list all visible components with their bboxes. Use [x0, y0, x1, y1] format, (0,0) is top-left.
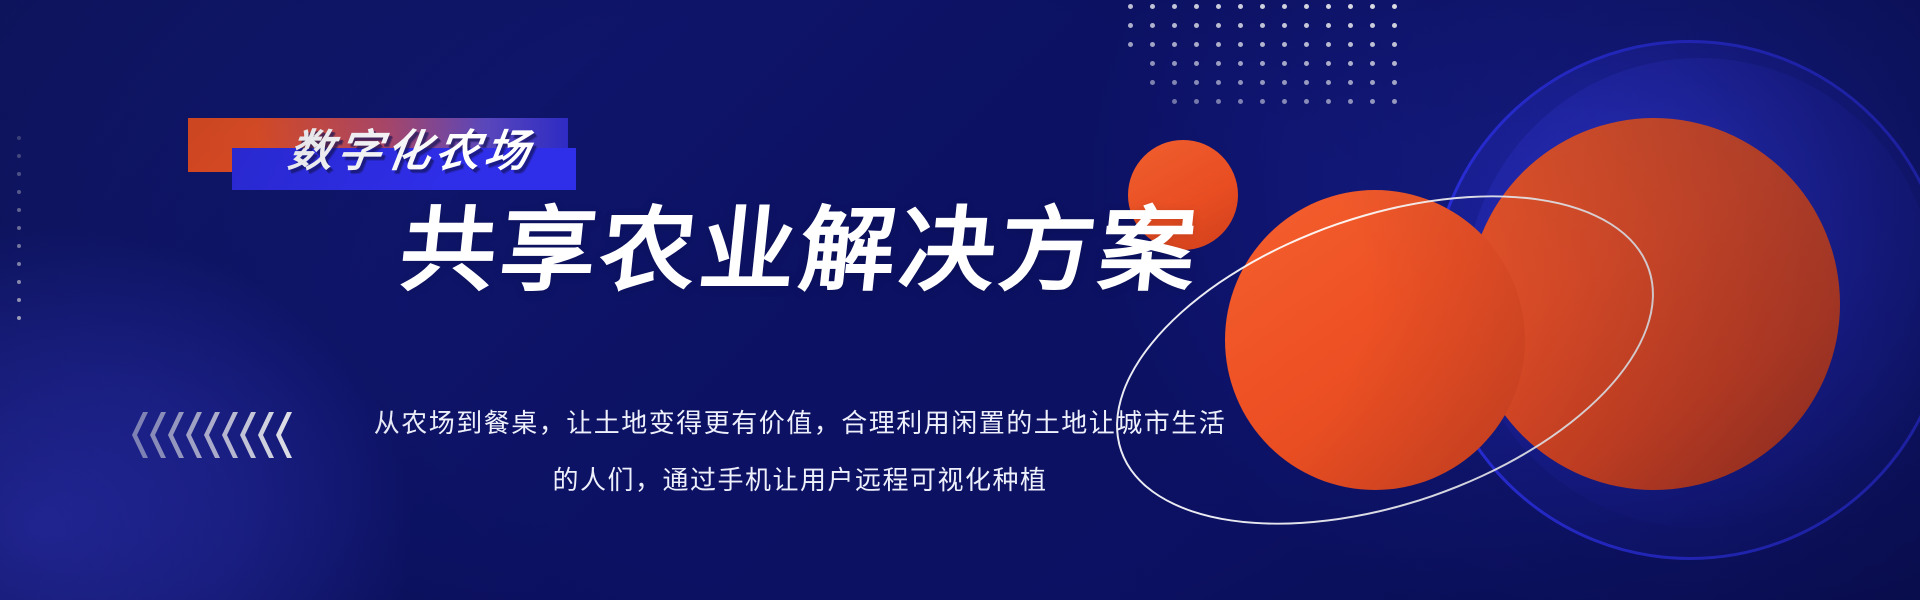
- hero-banner: 数字化农场 共享农业解决方案 从农场到餐桌，让土地变得更有价值，合理利用闲置的土…: [0, 0, 1920, 600]
- vignette-overlay: [0, 0, 1920, 600]
